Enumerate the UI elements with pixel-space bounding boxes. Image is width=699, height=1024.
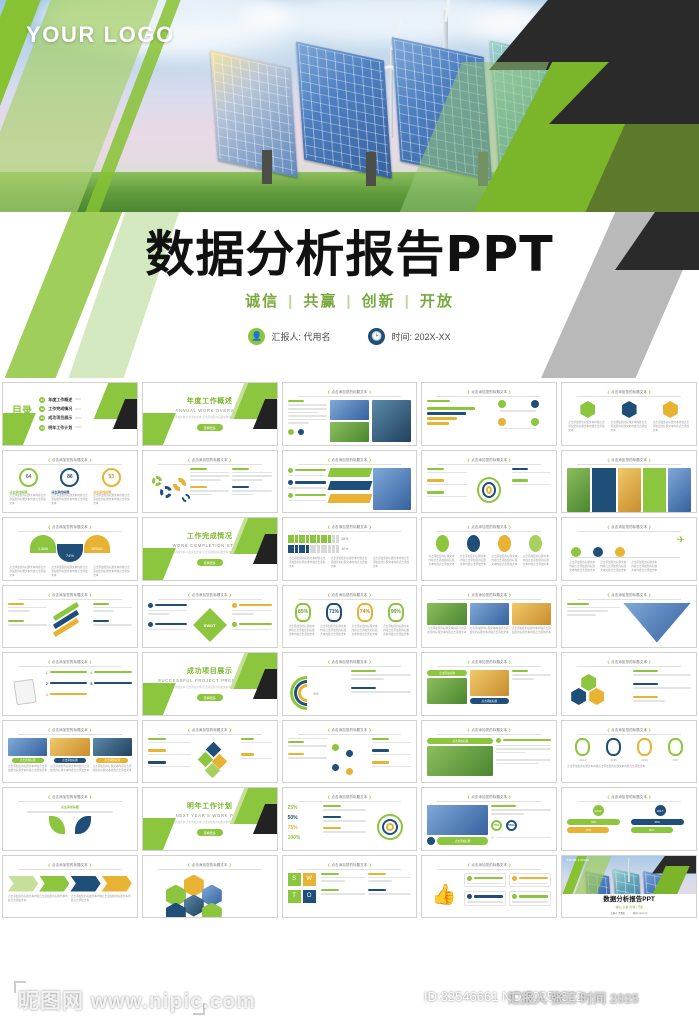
timeline-curve xyxy=(571,557,680,558)
icon-row xyxy=(288,429,327,435)
oval-row xyxy=(427,535,551,552)
thumbnail-ring-stats[interactable]: ❮ 点击添加您的标题文本 ❯ 64 86 53 点击添加标题点击添加您的标题文本… xyxy=(2,450,138,514)
photo-thumb xyxy=(8,738,47,756)
presenter-label: 汇报人: 代用名 xyxy=(611,911,625,915)
thumbnail-swot-diamond[interactable]: ❮ 点击添加您的标题文本 ❯ SWOT xyxy=(142,585,278,649)
arrow-step-lightgreen xyxy=(8,876,38,892)
text-column xyxy=(351,670,411,714)
text-line xyxy=(500,428,536,430)
number-badge: 01 xyxy=(39,397,45,403)
thumbnail-contents[interactable]: 目录 CONTENTS 01年度工作概述PART 02工作完成情况PART 03… xyxy=(2,382,138,446)
page-title: 数据分析报告PPT xyxy=(562,893,696,903)
percent-label: 50% xyxy=(288,815,298,821)
swot-letter-t: T xyxy=(288,890,301,903)
thumbnail-percent-rings[interactable]: ❮ 点击添加您的标题文本 ❯ 85% 71% 74% 90% 点击添加您的标题文… xyxy=(282,585,418,649)
divider xyxy=(437,801,541,802)
thumbnail-section-3[interactable]: 成功项目展示 SUCCESSFUL PROJECT PRESENTATION 点… xyxy=(142,652,278,716)
divider xyxy=(298,666,402,667)
card-blue: 点击添加标题 xyxy=(470,670,509,714)
timeline-area: ✈ 点击添加您的标题文本内容点击添加您的标题文本内容点击添加文本 点击添加您的标… xyxy=(567,535,691,579)
solar-panel xyxy=(296,41,392,178)
slide-header-text: 点击添加您的标题文本 xyxy=(332,593,368,597)
list-item: 2 xyxy=(46,681,88,686)
slogan-word-2: 共赢 xyxy=(623,906,628,909)
recycle-icon xyxy=(531,418,539,426)
gauge-percent: 8% xyxy=(314,692,319,696)
photo-thumb xyxy=(512,603,551,625)
accent-line xyxy=(321,873,339,875)
slide-header: ❮ 点击添加您的标题文本 ❯ xyxy=(567,657,691,664)
slide-body: 点击添加标题 xyxy=(427,738,551,782)
hexagon-cluster xyxy=(148,873,272,917)
caption: 点击添加您的标题文本内容点击添加您的标题文本内容点击添加文本 xyxy=(9,566,46,578)
text-line xyxy=(148,613,170,615)
person-icon xyxy=(299,545,302,553)
header-deco-icon: ❮ xyxy=(188,458,191,462)
divider xyxy=(298,464,402,465)
text-column xyxy=(93,603,132,647)
text-line xyxy=(427,496,466,498)
header-deco-icon: ❮ xyxy=(48,728,51,732)
thumbnail-section-1[interactable]: 年度工作概述 ANNUAL WORK OVERVIEW 点击添加文本 点击添加文… xyxy=(142,382,278,446)
slide-header: ❮ 点击添加您的标题文本 ❯ xyxy=(148,455,272,462)
ring-chart: 64 xyxy=(19,468,38,487)
pictogram-row: 85% xyxy=(288,535,412,543)
slide-header-text: 点击添加您的标题文本 xyxy=(332,863,368,867)
ribbon-column xyxy=(329,468,371,512)
gear-area xyxy=(148,468,187,512)
network-node-blue xyxy=(332,764,339,771)
thumbnail-timeline-plane[interactable]: ❮ 点击添加您的标题文本 ❯ ✈ 点击添加您的标题文本内容点击添加您的标题文本内… xyxy=(561,517,697,581)
slide-header: ❮ 点击添加您的标题文本 ❯ xyxy=(567,725,691,732)
stat-value: 30000 xyxy=(91,546,102,551)
text-line xyxy=(288,404,327,406)
slide-header: ❮ 点击添加您的标题文本 ❯ xyxy=(288,860,412,867)
divider xyxy=(18,599,122,600)
accent-line xyxy=(512,479,528,481)
list-item xyxy=(288,468,326,473)
caption-block: 点击添加标题点击添加您的标题文本内容点击添加您的标题文本内容点击添加文本 xyxy=(51,490,88,506)
thumbnail-compare-bars[interactable]: ❮ 点击添加您的标题文本 ❯ 2016 2017 35% 45% 60% 80% xyxy=(561,787,697,851)
header-deco-icon: ❯ xyxy=(89,795,92,799)
header-deco-icon: ❮ xyxy=(48,458,51,462)
slogan-word-3: 创新 xyxy=(362,293,396,310)
slide-header: ❮ 点击添加您的标题文本 ❯ xyxy=(8,792,132,799)
list-item-label: 工作完成情况 xyxy=(48,406,72,412)
header-deco-icon: ❯ xyxy=(648,593,651,597)
slide-thumbnail-grid: 目录 CONTENTS 01年度工作概述PART 02工作完成情况PART 03… xyxy=(0,382,699,1024)
ribbon-yellow xyxy=(327,494,372,503)
thumbnail-photo-trio-labels[interactable]: ❮ 点击添加您的标题文本 ❯ 点击添加标题 点击添加标题 点击添加标题 点击添加… xyxy=(2,720,138,784)
slide-body: 25% 50% 75% 100% xyxy=(288,805,412,849)
hexagon-icon-green xyxy=(581,674,596,691)
thumbnail-section-2[interactable]: 工作完成情况 WORK COMPLETION STATUS 点击添加文本 点击添… xyxy=(142,517,278,581)
accent-line xyxy=(239,604,271,606)
slide-header: ❮ 点击添加您的标题文本 ❯ xyxy=(8,590,132,597)
thumbnail-hexagon-icons[interactable]: ❮ 点击添加您的标题文本 ❯ 点击添加您的标题文本内容点击添加您的标题文本内容点… xyxy=(561,382,697,446)
text-line xyxy=(288,408,327,410)
divider xyxy=(298,599,402,600)
header-deco-icon: ❮ xyxy=(188,863,191,867)
list-number: 5 xyxy=(90,681,92,686)
header-deco-icon: ❮ xyxy=(607,525,610,529)
concentric-ring-inner xyxy=(386,823,394,831)
divider xyxy=(437,396,541,397)
header-deco-icon: ❮ xyxy=(467,458,470,462)
bullet-icon xyxy=(288,468,293,473)
bullet-icon xyxy=(288,480,293,485)
slide-header-text: 点击添加您的标题文本 xyxy=(52,660,88,664)
thumbnail-semicircle-stats[interactable]: ❮ 点击添加您的标题文本 ❯ 1,658 74% 30000 点击添加您的标题文… xyxy=(2,517,138,581)
slogan-word-3: 创新 xyxy=(630,906,635,909)
person-icon xyxy=(313,545,316,553)
thumbnail-oval-steps[interactable]: ❮ 点击添加您的标题文本 ❯ 点击添加您的标题文本内容点击添加您的标题文本内容点… xyxy=(421,517,557,581)
slide-header-text: 点击添加您的标题文本 xyxy=(611,458,647,462)
photo-card xyxy=(618,468,641,512)
card-column xyxy=(509,873,551,917)
header-deco-icon: ❮ xyxy=(188,593,191,597)
arrow-step-green xyxy=(39,876,69,892)
accent-line xyxy=(633,696,657,698)
card-head xyxy=(467,894,503,899)
list-item xyxy=(288,480,326,485)
photo-card xyxy=(567,468,590,512)
slide-header-text: 点击添加您的标题文本 xyxy=(611,728,647,732)
text-line xyxy=(351,691,411,693)
section-title-cn: 明年工作计划 xyxy=(187,801,233,811)
thumbnail-people-chart[interactable]: ❮ 点击添加您的标题文本 ❯ 85% 40% 点击添加您的标题文本内容点击添加您… xyxy=(282,517,418,581)
text-line xyxy=(323,831,366,833)
clipboard-icon xyxy=(14,679,37,706)
more-button[interactable]: 查看更多 xyxy=(197,424,223,431)
oval-badge-yellow xyxy=(498,535,511,552)
stat-value: 74% xyxy=(66,553,74,558)
more-button[interactable]: 查看更多 xyxy=(197,694,223,701)
text-column xyxy=(512,670,551,714)
caption: 点击添加您的标题文本内容点击添加您的标题文本内容点击添加文本 xyxy=(631,561,657,573)
divider xyxy=(18,531,122,532)
person-icon xyxy=(321,535,324,543)
thumbnail-hexagon-photos[interactable]: ❮ 点击添加您的标题文本 ❯ xyxy=(142,855,278,919)
header-deco-icon: ❯ xyxy=(508,390,511,394)
header-deco-icon: ❯ xyxy=(369,863,372,867)
thumbnail-photo-banner[interactable]: ❮ 点击添加您的标题文本 ❯ 点击添加标题 xyxy=(421,720,557,784)
header-deco-icon: ❯ xyxy=(89,458,92,462)
header-deco-icon: ❯ xyxy=(89,863,92,867)
year-label: 2017 xyxy=(672,758,678,762)
slide-header-text: 点击添加您的标题文本 xyxy=(192,728,228,732)
swot-letter-w: W xyxy=(303,873,316,886)
thumbnail-arc-gauge[interactable]: ❮ 点击添加您的标题文本 ❯ 8% xyxy=(282,652,418,716)
text-line xyxy=(512,674,551,676)
swot-letter-o: O xyxy=(303,890,316,903)
header-deco-icon: ❮ xyxy=(467,660,470,664)
slide-header: ❮ 点击添加您的标题文本 ❯ xyxy=(8,455,132,462)
percent-row: 25% xyxy=(288,805,320,811)
text-line xyxy=(190,479,221,481)
caption: 点击添加您的标题文本内容点击添加您的标题文本内容点击添加文本 xyxy=(352,625,379,637)
person-icon xyxy=(328,545,331,553)
more-button[interactable]: 查看更多 xyxy=(197,559,223,566)
thumbnail-building-photo[interactable]: ❮ 点击添加您的标题文本 ❯ 点击添加标题 75% 55% ✓ xyxy=(421,787,557,851)
hexagon-icon-blue xyxy=(622,401,637,418)
card-head xyxy=(467,876,503,881)
slide-header-text: 点击添加您的标题文本 xyxy=(192,863,228,867)
text-column xyxy=(241,738,272,782)
slide-header: ❮ 点击添加您的标题文本 ❯ xyxy=(567,455,691,462)
ring-row: 85% 71% 74% 90% xyxy=(288,603,412,622)
accent-line xyxy=(474,895,503,897)
caption: 点击添加您的标题文本内容点击添加您的标题文本内容点击添加文本 xyxy=(512,627,551,635)
year-badge-blue: 2017 xyxy=(655,805,666,816)
divider xyxy=(577,531,681,532)
slogan-word-4: 开放 xyxy=(420,293,454,310)
divider xyxy=(298,869,402,870)
accent-line xyxy=(368,873,386,875)
presenter-label: 汇报人: 代用名 xyxy=(271,330,330,343)
caption: 点击添加您的标题文本内容点击添加您的标题文本内容点击添加文本 xyxy=(9,494,46,506)
text-line xyxy=(148,742,192,744)
text-column xyxy=(323,805,366,849)
slide-body xyxy=(427,400,551,444)
thumbnail-text-photo[interactable]: ❮ 点击添加您的标题文本 ❯ xyxy=(282,382,418,446)
node-badge-blue xyxy=(593,547,603,557)
thumbsup-illustration: 👍 xyxy=(427,873,461,917)
divider xyxy=(577,396,681,397)
thumbnail-arrow-list[interactable]: ❮ 点击添加您的标题文本 ❯ xyxy=(282,450,418,514)
thumbnail-gears[interactable]: ❮ 点击添加您的标题文本 ❯ xyxy=(142,450,278,514)
divider xyxy=(577,464,681,465)
company-logo: YOUR LOGO xyxy=(26,22,175,48)
spiral-ring-inner xyxy=(486,486,492,494)
cover-slogan: 诚信 | 共赢 | 创新 | 开放 xyxy=(562,905,696,909)
photo-row xyxy=(8,738,132,756)
text-line xyxy=(496,759,551,761)
caption: 点击添加您的标题文本内容点击添加您的标题文本内容点击添加文本 xyxy=(93,566,130,578)
percent-label: 75% xyxy=(288,825,298,831)
thumbnail-percent-steps[interactable]: ❮ 点击添加您的标题文本 ❯ 25% 50% 75% 100% xyxy=(282,787,418,851)
solar-panel xyxy=(210,50,297,177)
accent-line xyxy=(372,761,388,763)
slide-header-text: 点击添加您的标题文本 xyxy=(471,525,507,529)
text-line xyxy=(241,742,272,744)
caption-row: 点击添加您的标题文本内容点击添加您的标题文本内容点击添加文本 点击添加您的标题文… xyxy=(288,557,412,569)
header-deco-icon: ❮ xyxy=(188,728,191,732)
number-badge: 02 xyxy=(39,406,45,412)
number-badge: 03 xyxy=(39,415,45,421)
thumbnail-clipboard-list[interactable]: ❮ 点击添加您的标题文本 ❯ 1 2 3 4 5 xyxy=(2,652,138,716)
caption: 点击添加您的标题文本内容点击添加您的标题文本内容点击添加文本 xyxy=(71,895,132,903)
divider xyxy=(437,869,541,870)
accent-line xyxy=(190,486,206,488)
slide-header: ❮ 点击添加您的标题文本 ❯ xyxy=(427,860,551,867)
thumbnail-solar-panel-funnel[interactable]: ❮ 点击添加您的标题文本 ❯ xyxy=(561,585,697,649)
slide-header-text: 点击添加您的标题文本 xyxy=(332,728,368,732)
accent-line xyxy=(503,739,551,741)
small-ring: 75% xyxy=(491,820,502,831)
caption: 点击添加您的标题文本内容点击添加您的标题文本内容点击添加文本 xyxy=(93,765,132,773)
text-line xyxy=(148,629,187,631)
thumbnail-swot-matrix[interactable]: ❮ 点击添加您的标题文本 ❯ S W T O xyxy=(282,855,418,919)
percent-row: 100% xyxy=(288,835,320,841)
section-title-cn: 年度工作概述 xyxy=(187,396,233,406)
divider xyxy=(577,599,681,600)
accent-line xyxy=(148,738,166,740)
check-row: ✓ xyxy=(491,835,551,841)
list-number: 4 xyxy=(90,670,92,675)
slide-body: 👍 xyxy=(427,873,551,917)
thumbnail-node-network[interactable]: ❮ 点击添加您的标题文本 ❯ xyxy=(282,720,418,784)
header-deco-icon: ❮ xyxy=(327,728,330,732)
gear-icon-dark xyxy=(182,494,190,502)
divider xyxy=(298,734,402,735)
thumbnail-pencil-diagram[interactable]: ❮ 点击添加您的标题文本 ❯ xyxy=(2,585,138,649)
ring-chart: 71% xyxy=(326,603,342,622)
text-line xyxy=(190,490,229,492)
thumbnail-hexagon-cluster[interactable]: ❮ 点击添加您的标题文本 ❯ xyxy=(561,652,697,716)
ring-chart: 90% xyxy=(388,603,404,622)
text-column xyxy=(8,603,47,647)
cover-meta: 汇报人: 代用名 时间: 202X-XX xyxy=(562,911,696,915)
thumbnail-photo-cards[interactable]: ❮ 点击添加您的标题文本 ❯ xyxy=(561,450,697,514)
accent-line xyxy=(288,753,304,755)
thumbnail-puzzle-diagram[interactable]: ❮ 点击添加您的标题文本 ❯ xyxy=(142,720,278,784)
pencil-illustration xyxy=(50,603,89,647)
percent-label: 85% xyxy=(342,537,349,541)
person-icon xyxy=(332,545,335,553)
photo-thumb xyxy=(372,400,411,442)
hexagon-icon-yellow xyxy=(589,688,604,705)
caption: 点击添加您的标题文本内容点击添加您的标题文本内容点击添加文本 xyxy=(289,557,326,569)
thumbnail-year-rings[interactable]: ❮ 点击添加您的标题文本 ❯ 2014 2015 2016 2017 点击添加您… xyxy=(561,720,697,784)
text-line xyxy=(321,880,345,882)
text-line xyxy=(288,412,319,414)
text-column xyxy=(148,603,187,647)
photo-label-green: 点击添加标题 xyxy=(12,758,44,763)
diamond-label: SWOT xyxy=(204,622,216,627)
header-deco-icon: ❯ xyxy=(369,660,372,664)
header-deco-icon: ❮ xyxy=(467,795,470,799)
divider xyxy=(437,734,541,735)
panel-support xyxy=(262,150,272,184)
slide-header: ❮ 点击添加您的标题文本 ❯ xyxy=(567,792,691,799)
globe-icon xyxy=(531,400,539,408)
accent-line xyxy=(351,687,376,689)
text-line xyxy=(323,809,366,811)
date-field: 🕑 时间: 202X-XX xyxy=(368,328,450,345)
accent-line xyxy=(323,805,341,807)
text-line xyxy=(351,678,384,680)
text-line xyxy=(288,500,326,502)
slide-body xyxy=(148,468,272,512)
thumbnail-cover-mini[interactable]: YOUR LOGO 数据分析报告PPT 诚信 | 共赢 | 创新 | 开放 汇报… xyxy=(561,855,697,919)
slide-header-text: 点击添加您的标题文本 xyxy=(611,525,647,529)
thumbnail-section-4[interactable]: 明年工作计划 NEXT YEAR'S WORK PLAN 点击添加文本 点击添加… xyxy=(142,787,278,851)
photo-thumb xyxy=(93,738,132,756)
clock-icon: 🕑 xyxy=(368,328,385,345)
list-item: 1 xyxy=(46,670,88,675)
text-column xyxy=(232,468,271,512)
caption: 点击添加您的标题文本内容点击添加您的标题文本内容点击添加文本 xyxy=(93,494,130,506)
year-ring xyxy=(606,738,621,756)
photo-triangle xyxy=(623,603,691,643)
slide-body: 8% xyxy=(288,670,412,714)
more-button[interactable]: 查看更多 xyxy=(197,829,223,836)
flag-row: 点击添加标题 xyxy=(427,837,487,845)
card-row xyxy=(567,468,691,512)
check-icon xyxy=(288,429,294,435)
caption-row: 点击添加您的标题文本内容点击添加您的标题文本内容点击添加文本 点击添加您的标题文… xyxy=(288,625,412,637)
accent-line xyxy=(427,468,443,470)
text-line xyxy=(241,758,272,760)
section-title-cn: 工作完成情况 xyxy=(187,531,233,541)
caption-row: 点击添加标题点击添加您的标题文本内容点击添加您的标题文本内容点击添加文本 点击添… xyxy=(8,490,132,506)
photo-column: 点击添加标题 xyxy=(427,738,493,782)
slide-header: ❮ 点击添加您的标题文本 ❯ xyxy=(8,657,132,664)
slide-header: ❮ 点击添加您的标题文本 ❯ xyxy=(288,387,412,394)
thumbnail-bar-chart[interactable]: ❮ 点击添加您的标题文本 ❯ xyxy=(421,382,557,446)
bar-column-green: 35% 45% xyxy=(567,819,627,833)
slide-header-text: 点击添加您的标题文本 xyxy=(471,660,507,664)
list-item xyxy=(232,622,271,627)
caption-row: 点击添加您的标题文本内容点击添加您的标题文本内容点击添加文本 点击添加您的标题文… xyxy=(8,765,132,773)
card-label-green: 点击添加标题 xyxy=(427,670,466,676)
list-number: 1 xyxy=(46,670,48,675)
photo-column xyxy=(372,400,411,444)
percent-row: 50% xyxy=(288,815,320,821)
text-line xyxy=(93,610,115,612)
divider xyxy=(298,396,402,397)
accent-line xyxy=(94,682,131,684)
thumbnail-leaf-pie[interactable]: ❮ 点击添加您的标题文本 ❯ 点击添加标题 xyxy=(2,787,138,851)
divider xyxy=(158,734,262,735)
bar-column-blue: 60% 80% xyxy=(631,819,691,833)
thumbnail-spiral-diagram[interactable]: ❮ 点击添加您的标题文本 ❯ xyxy=(421,450,557,514)
thumbnail-arrow-process[interactable]: ❮ 点击添加您的标题文本 ❯ 点击添加您的标题文本内容点击添加您的标题文本内容点… xyxy=(2,855,138,919)
person-icon xyxy=(302,545,305,553)
text-line xyxy=(496,748,551,750)
funnel-photo xyxy=(623,603,691,647)
photo-thumb xyxy=(427,678,466,704)
bar-chart xyxy=(427,400,482,444)
accent-line xyxy=(295,494,326,496)
text-line xyxy=(288,745,327,747)
text-line xyxy=(372,742,411,744)
airplane-icon: ✈ xyxy=(677,535,685,546)
accent-line xyxy=(372,749,388,751)
stat-value: 1,658 xyxy=(38,546,48,551)
check-icon: ✓ xyxy=(491,835,495,841)
slide-header: ❮ 点击添加您的标题文本 ❯ xyxy=(427,522,551,529)
accent-line xyxy=(8,620,24,622)
caption: 点击添加您的标题文本内容点击添加您的标题文本内容点击添加文本 xyxy=(567,765,691,769)
slide-header: ❮ 点击添加您的标题文本 ❯ xyxy=(427,455,551,462)
thumbnail-three-photos[interactable]: ❮ 点击添加您的标题文本 ❯ 点击添加您的标题文本内容点击添加您的标题文本内容点… xyxy=(421,585,557,649)
percent-row: 75% xyxy=(288,825,320,831)
person-icon xyxy=(295,535,298,543)
accent-line xyxy=(567,603,589,605)
slide-header-text: 点击添加您的标题文本 xyxy=(332,795,368,799)
slide-body xyxy=(427,468,551,512)
section-title-cn: 成功项目展示 xyxy=(187,666,233,676)
slide-header-text: 点击添加您的标题文本 xyxy=(52,863,88,867)
thumbnail-thumbsup-cards[interactable]: ❮ 点击添加您的标题文本 ❯ 👍 xyxy=(421,855,557,919)
slide-header: ❮ 点击添加您的标题文本 ❯ xyxy=(427,657,551,664)
icon-row xyxy=(485,418,551,426)
header-deco-icon: ❯ xyxy=(508,525,511,529)
card-head xyxy=(512,876,548,881)
thumbnail-two-photo-cards[interactable]: ❮ 点击添加您的标题文本 ❯ 点击添加标题 点击添加标题 xyxy=(421,652,557,716)
